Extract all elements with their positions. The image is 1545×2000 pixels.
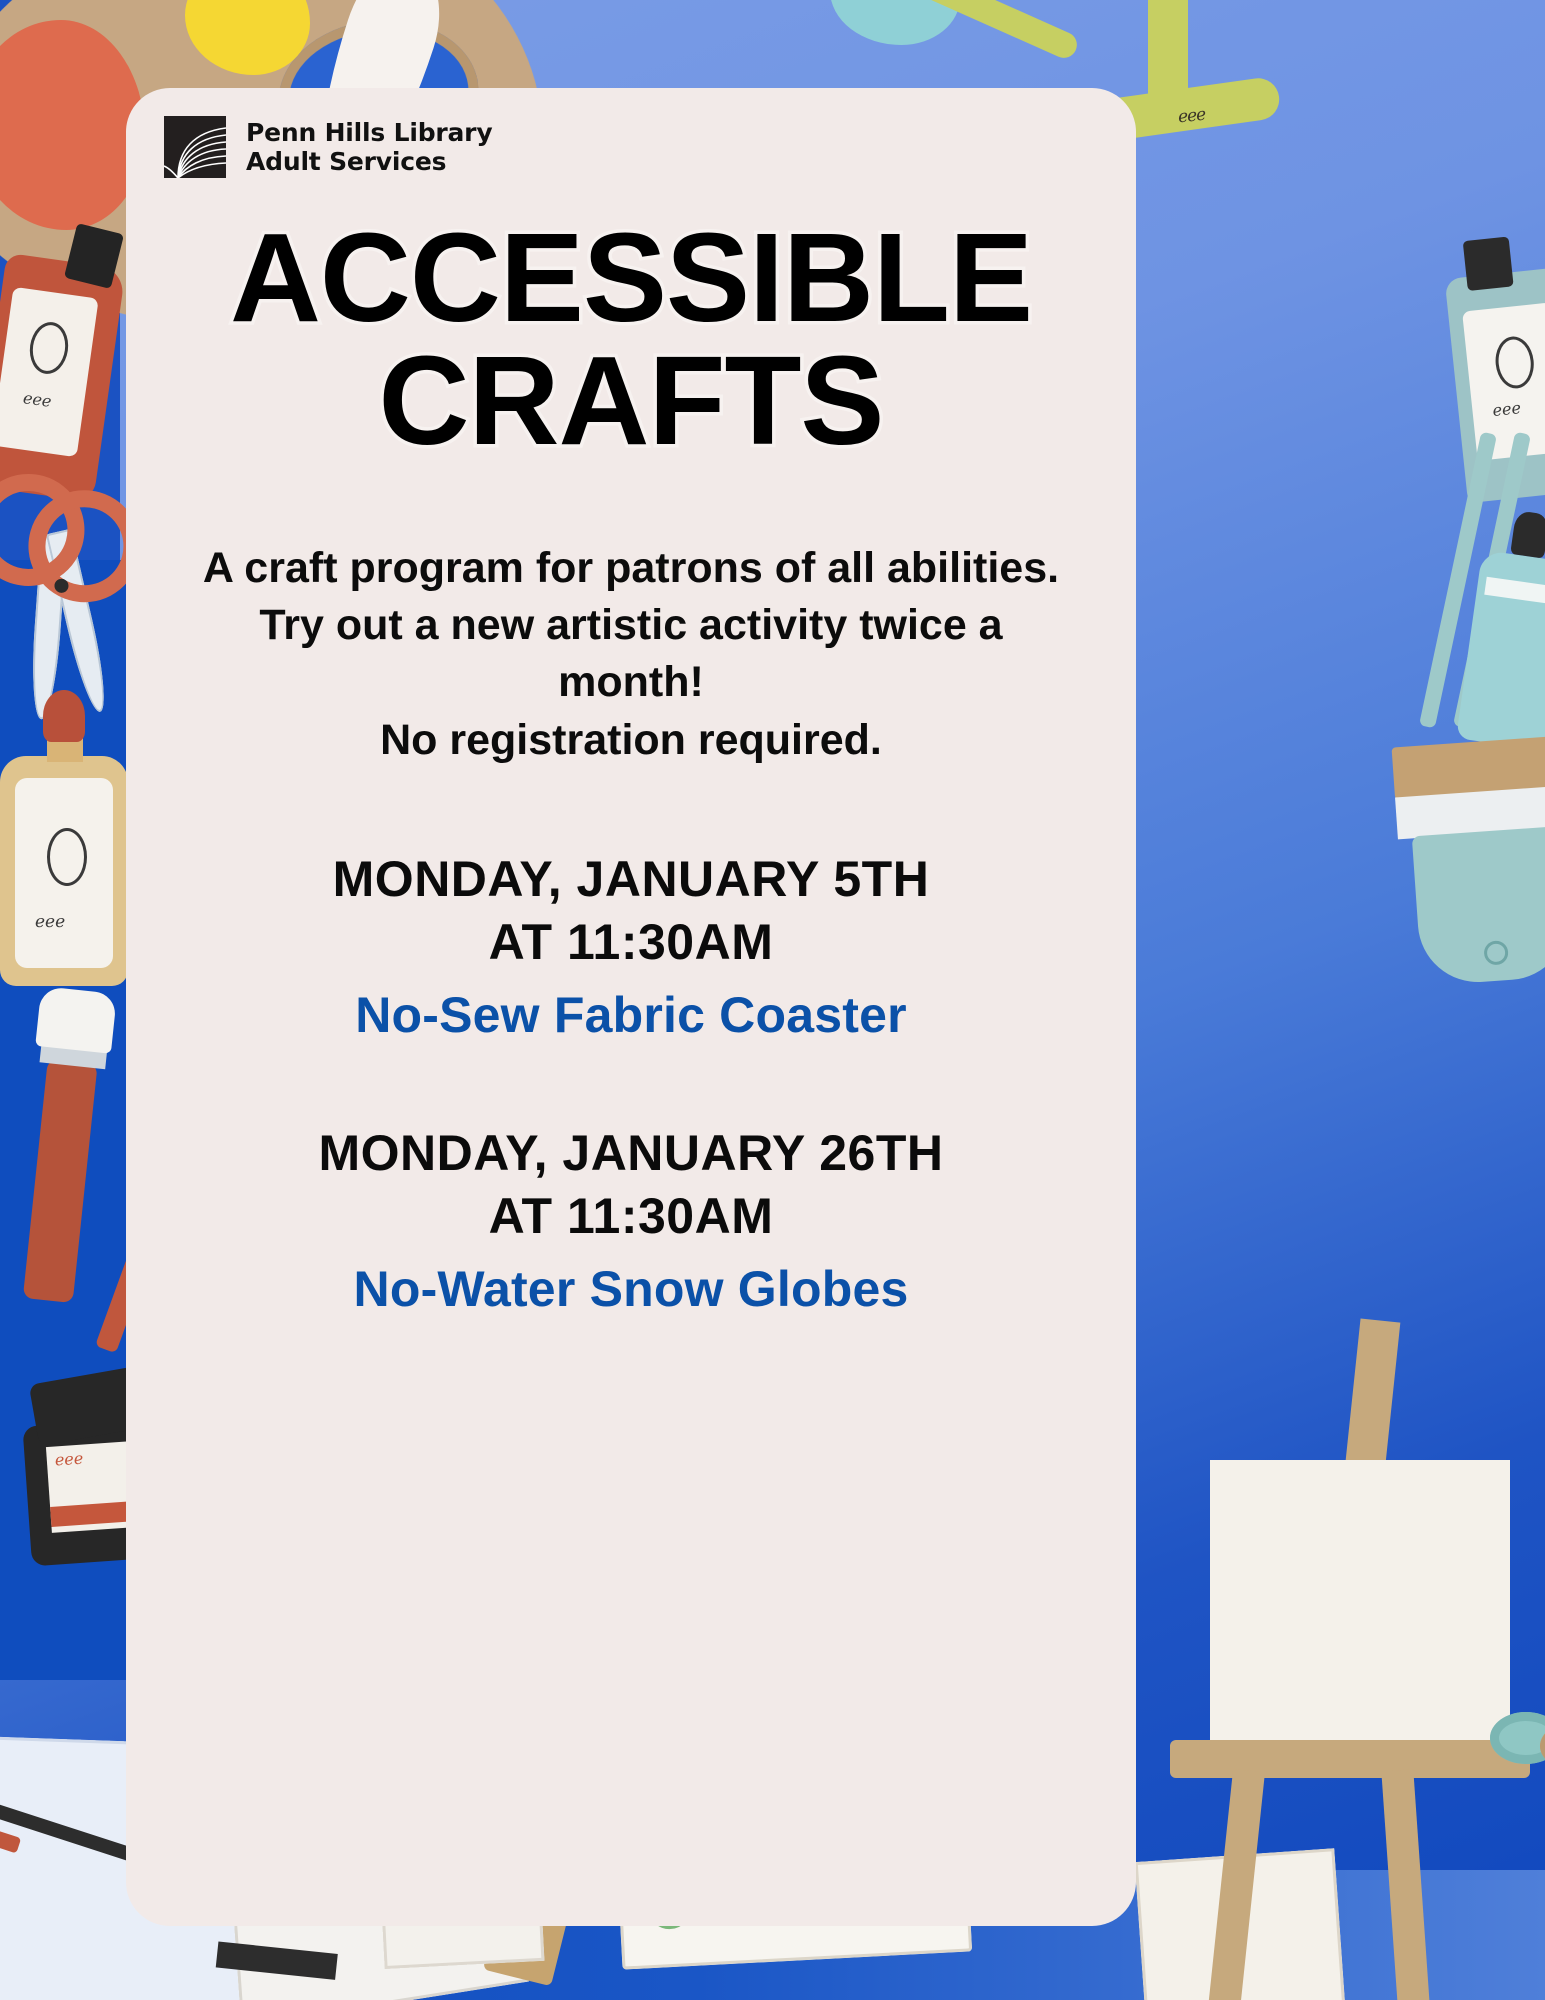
event-item: MONDAY, JANUARY 26TH AT 11:30AM No-Water… [166, 1122, 1096, 1324]
title-line-2: CRAFTS [126, 339, 1136, 462]
description-line-3: month! [186, 654, 1076, 711]
brand-line-2: Adult Services [246, 147, 492, 177]
brand-header: Penn Hills Library Adult Services [164, 116, 492, 178]
program-description: A craft program for patrons of all abili… [186, 540, 1076, 769]
paint-tube-red-icon: ℯℯℯ [0, 240, 120, 500]
poster-canvas: ℯℯℯ ℯℯℯ ℯℯℯ ℯℯℯ [0, 0, 1545, 2000]
library-fan-logo-icon [164, 116, 226, 178]
easel-icon [1180, 1400, 1545, 2000]
event-date: MONDAY, JANUARY 5TH [166, 848, 1096, 911]
page-title: ACCESSIBLE CRAFTS [126, 216, 1136, 463]
description-line-2: Try out a new artistic activity twice a [186, 597, 1076, 654]
event-activity: No-Water Snow Globes [166, 1256, 1096, 1324]
event-time: AT 11:30AM [166, 911, 1096, 974]
events-list: MONDAY, JANUARY 5TH AT 11:30AM No-Sew Fa… [166, 848, 1096, 1395]
event-date: MONDAY, JANUARY 26TH [166, 1122, 1096, 1185]
description-line-1: A craft program for patrons of all abili… [186, 540, 1076, 597]
glue-bottle-icon: ℯℯℯ [0, 700, 145, 1000]
event-time: AT 11:30AM [166, 1185, 1096, 1248]
event-activity: No-Sew Fabric Coaster [166, 982, 1096, 1050]
title-line-1: ACCESSIBLE [126, 216, 1136, 339]
brand-text: Penn Hills Library Adult Services [246, 118, 492, 177]
brand-line-1: Penn Hills Library [246, 118, 492, 148]
poster-card: Penn Hills Library Adult Services ACCESS… [126, 88, 1136, 1926]
event-item: MONDAY, JANUARY 5TH AT 11:30AM No-Sew Fa… [166, 848, 1096, 1050]
description-line-4: No registration required. [186, 712, 1076, 769]
flat-paintbrush-icon [1392, 733, 1545, 997]
